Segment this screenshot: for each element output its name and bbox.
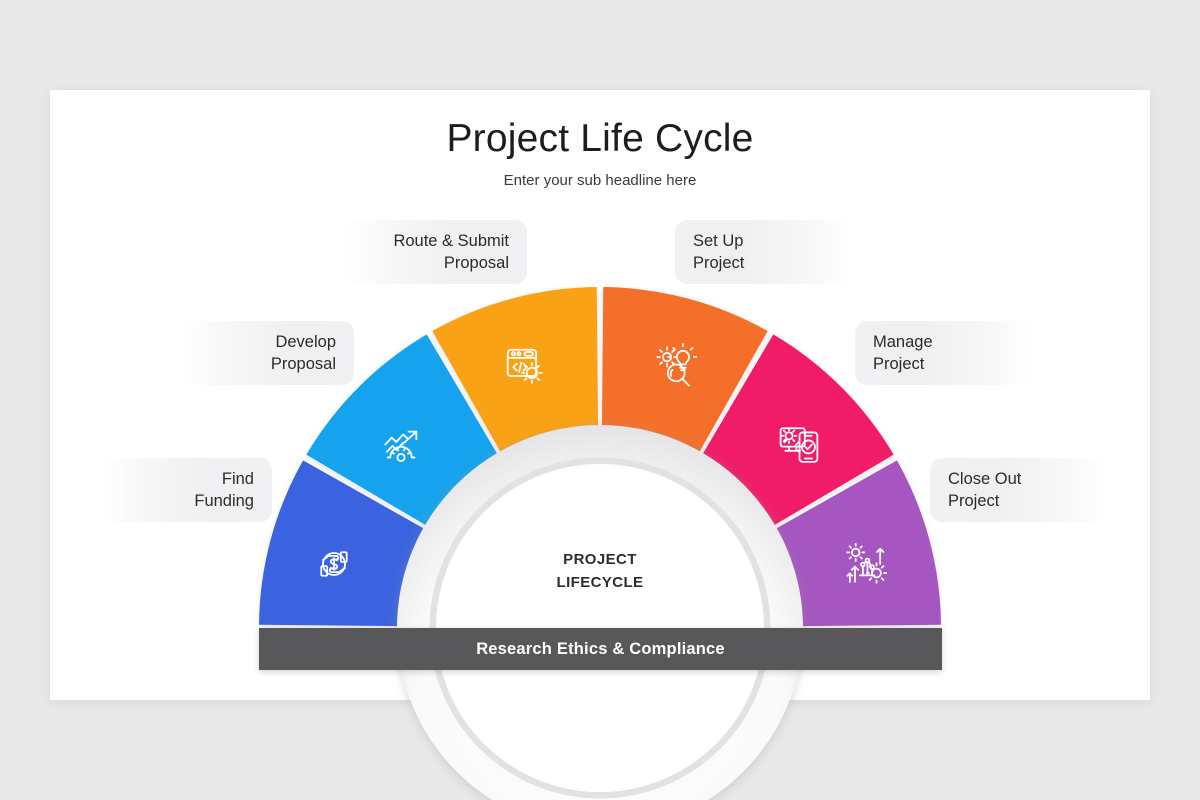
segment-label-line2: Project — [693, 252, 744, 274]
segment-label-line1: Manage — [873, 331, 933, 353]
segment-label-set-up-project[interactable]: Set Up Project — [675, 220, 853, 284]
segment-label-line1: Route & Submit — [393, 230, 509, 252]
segment-label-line1: Close Out — [948, 468, 1021, 490]
segment-label-find-funding[interactable]: Find Funding — [100, 458, 272, 522]
hub-label-line2: LIFECYCLE — [470, 571, 730, 594]
segment-label-line1: Set Up — [693, 230, 743, 252]
segment-label-line1: Find — [222, 468, 254, 490]
segment-label-line2: Funding — [194, 490, 254, 512]
segment-label-close-out-project[interactable]: Close Out Project — [930, 458, 1108, 522]
compliance-bar[interactable]: Research Ethics & Compliance — [259, 628, 942, 670]
segment-label-line2: Proposal — [444, 252, 509, 274]
hub-label-line1: PROJECT — [470, 548, 730, 571]
project-lifecycle-diagram: Find Funding Develop Proposal Route & Su… — [0, 0, 1200, 800]
segment-label-line2: Project — [873, 353, 924, 375]
hub-label: PROJECT LIFECYCLE — [470, 548, 730, 594]
lifecycle-wheel — [0, 0, 1200, 800]
segment-label-line1: Develop — [275, 331, 336, 353]
segment-label-route-submit-proposal[interactable]: Route & Submit Proposal — [345, 220, 527, 284]
segment-label-manage-project[interactable]: Manage Project — [855, 321, 1033, 385]
segment-label-line2: Proposal — [271, 353, 336, 375]
compliance-bar-label: Research Ethics & Compliance — [476, 640, 725, 659]
segment-label-develop-proposal[interactable]: Develop Proposal — [182, 321, 354, 385]
segment-label-line2: Project — [948, 490, 999, 512]
